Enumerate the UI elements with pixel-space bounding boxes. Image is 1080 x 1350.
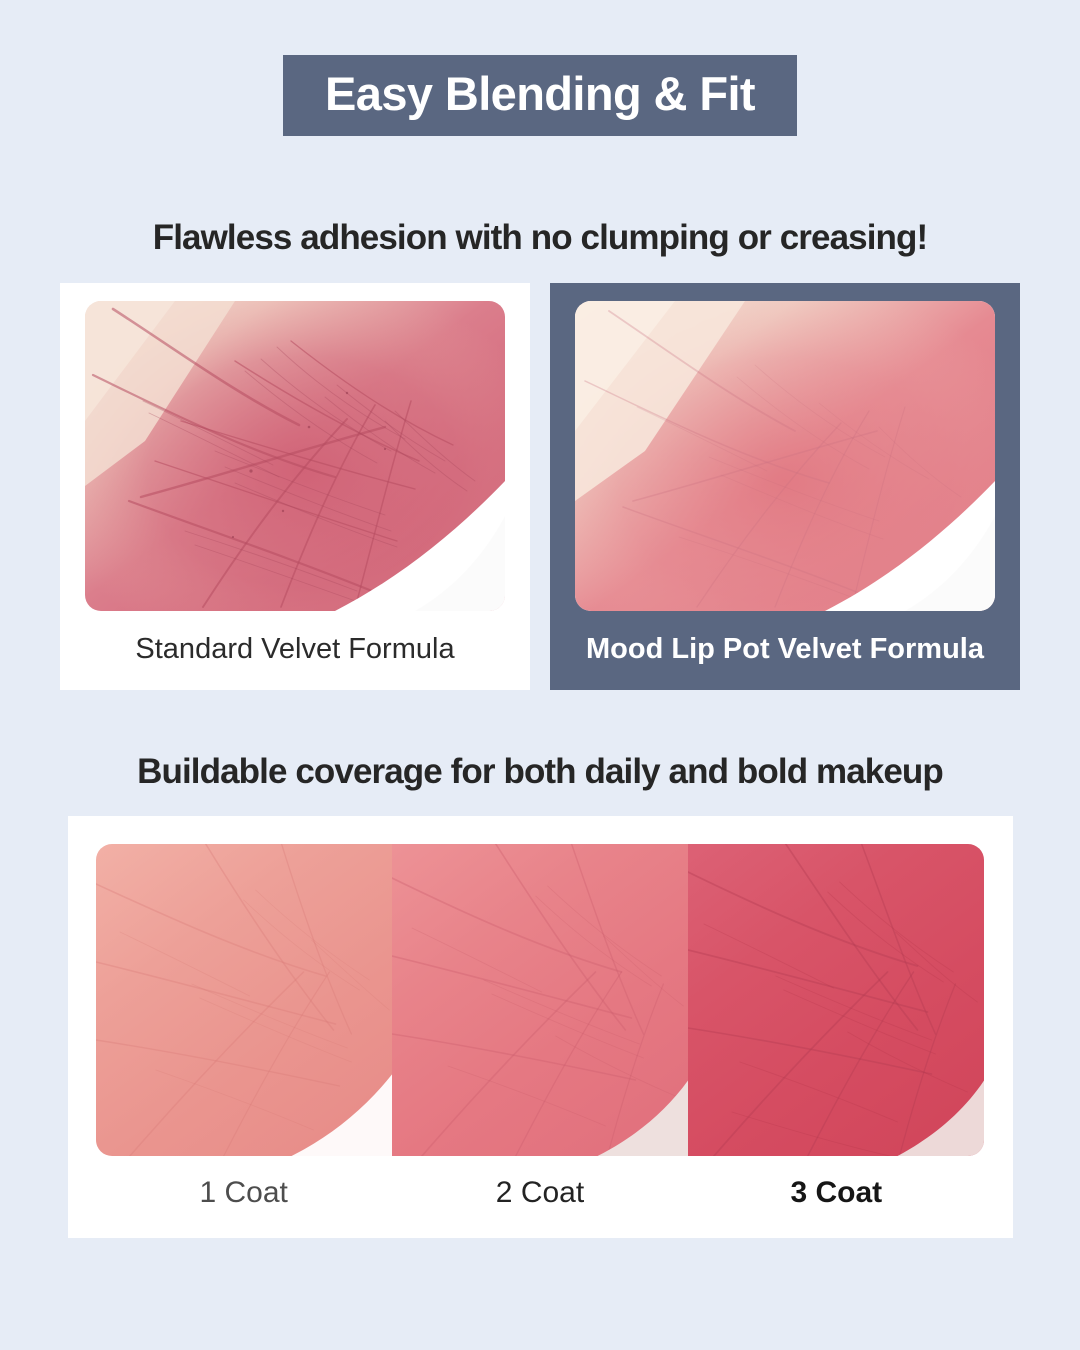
coat-label-three: 3 Coat xyxy=(688,1178,984,1208)
standard-formula-swatch-photo xyxy=(85,301,505,611)
coats-label-row: 1 Coat 2 Coat 3 Coat xyxy=(96,1156,985,1238)
title-banner: Easy Blending & Fit xyxy=(283,55,797,136)
three-coat-swatch-photo xyxy=(688,844,984,1156)
swatch-image-two-coat xyxy=(392,844,688,1156)
coat-label-one: 1 Coat xyxy=(96,1178,392,1208)
page-title: Easy Blending & Fit xyxy=(325,69,755,118)
comparison-caption-mood-lip-pot: Mood Lip Pot Velvet Formula xyxy=(586,611,984,690)
formula-comparison-row: Standard Velvet Formula xyxy=(0,283,1080,690)
two-coat-swatch-photo xyxy=(392,844,688,1156)
buildable-coverage-heading: Buildable coverage for both daily and bo… xyxy=(0,752,1080,792)
mood-lip-pot-swatch-photo xyxy=(575,301,995,611)
buildable-coverage-section: Buildable coverage for both daily and bo… xyxy=(0,752,1080,1238)
coats-card: 1 Coat 2 Coat 3 Coat xyxy=(68,816,1013,1238)
banner-container: Easy Blending & Fit xyxy=(0,0,1080,136)
adhesion-section-heading: Flawless adhesion with no clumping or cr… xyxy=(0,218,1080,258)
comparison-caption-standard: Standard Velvet Formula xyxy=(135,611,454,690)
swatch-image-mood-lip-pot xyxy=(575,301,995,611)
coat-label-two: 2 Coat xyxy=(392,1178,688,1208)
swatch-image-standard-formula xyxy=(85,301,505,611)
swatch-image-one-coat xyxy=(96,844,392,1156)
coats-image-row xyxy=(96,844,985,1156)
swatch-image-three-coat xyxy=(688,844,984,1156)
comparison-card-standard: Standard Velvet Formula xyxy=(60,283,530,690)
one-coat-swatch-photo xyxy=(96,844,392,1156)
adhesion-section: Flawless adhesion with no clumping or cr… xyxy=(0,218,1080,690)
comparison-card-mood-lip-pot: Mood Lip Pot Velvet Formula xyxy=(550,283,1020,690)
